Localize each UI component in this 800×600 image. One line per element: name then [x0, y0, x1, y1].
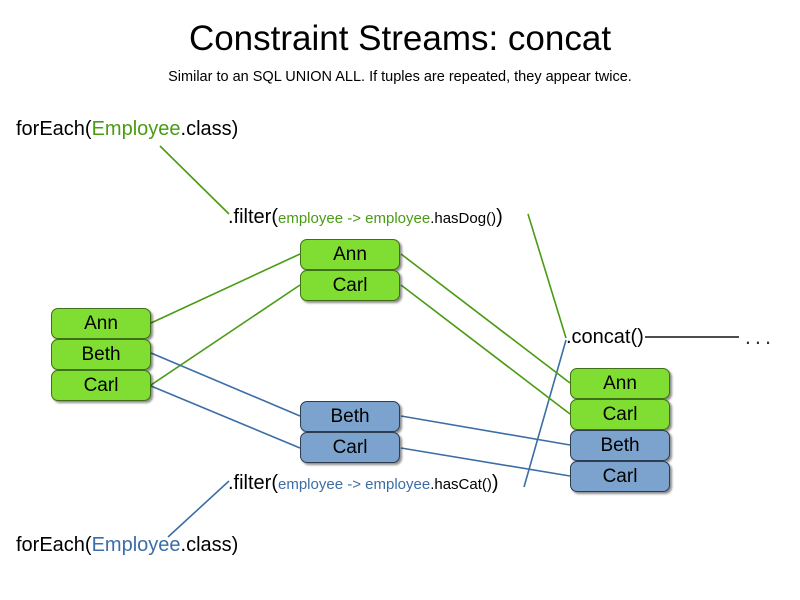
filter-cat-close: ): [492, 472, 499, 494]
tuple-result-3[interactable]: Carl: [570, 461, 670, 492]
tuple-cat-1[interactable]: Carl: [300, 432, 400, 463]
filter-dog-close: ): [496, 206, 503, 228]
filter-dog-lambda-call: .hasDog(): [430, 210, 496, 227]
tuple-label: Beth: [600, 436, 639, 455]
label-foreach-top: forEach(Employee.class): [16, 118, 238, 140]
tuple-label: Ann: [84, 314, 118, 333]
filter-dog-method: .filter(: [228, 206, 278, 228]
page-title: Constraint Streams: concat: [0, 18, 800, 60]
wire-dog-carl-to-result-carl: [401, 285, 570, 414]
tuple-label: Carl: [603, 467, 638, 486]
foreach-top-suffix: .class): [181, 118, 239, 140]
diagram-canvas: Constraint Streams: concat Similar to an…: [0, 0, 800, 600]
filter-cat-lambda-call: .hasCat(): [430, 476, 492, 493]
foreach-top-type: Employee: [92, 118, 181, 140]
filter-cat-method: .filter(: [228, 472, 278, 494]
tuple-source-1[interactable]: Beth: [51, 339, 151, 370]
label-concat: .concat() ...: [566, 326, 775, 348]
filter-dog-arrow: ->: [347, 210, 361, 227]
foreach-bottom-suffix: .class): [181, 534, 239, 556]
label-filter-dog: .filter(employee -> employee.hasDog()): [228, 206, 503, 230]
tuple-label: Ann: [333, 245, 367, 264]
filter-cat-lambda-param: employee: [278, 476, 343, 493]
foreach-bottom-prefix: forEach(: [16, 534, 92, 556]
filter-cat-lambda-obj: employee: [365, 476, 430, 493]
wire-source-carl-to-dog-carl: [151, 285, 300, 385]
foreach-bottom-type: Employee: [92, 534, 181, 556]
tuple-result-1[interactable]: Carl: [570, 399, 670, 430]
leader-foreach-top-to-filter-dog: [160, 146, 229, 214]
leader-filter-cat-to-concat: [524, 340, 566, 487]
concat-method: .concat(): [566, 326, 644, 348]
wire-source-beth-to-cat-beth: [151, 353, 300, 416]
wire-cat-beth-to-result-beth: [401, 416, 570, 445]
page-subtitle: Similar to an SQL UNION ALL. If tuples a…: [0, 68, 800, 86]
tuple-cat-0[interactable]: Beth: [300, 401, 400, 432]
filter-dog-lambda-param: employee: [278, 210, 343, 227]
tuple-source-2[interactable]: Carl: [51, 370, 151, 401]
tuple-label: Carl: [603, 405, 638, 424]
tuple-source-0[interactable]: Ann: [51, 308, 151, 339]
tuple-label: Carl: [84, 376, 119, 395]
foreach-top-prefix: forEach(: [16, 118, 92, 140]
tuple-label: Beth: [330, 407, 369, 426]
filter-cat-arrow: ->: [347, 476, 361, 493]
leader-filter-dog-to-concat: [528, 214, 566, 338]
wire-source-ann-to-dog-ann: [151, 254, 300, 323]
leader-foreach-bottom-to-filter-cat: [168, 481, 229, 537]
wire-source-carl-to-cat-carl: [151, 386, 300, 448]
tuple-result-0[interactable]: Ann: [570, 368, 670, 399]
label-foreach-bottom: forEach(Employee.class): [16, 534, 238, 556]
label-filter-cat: .filter(employee -> employee.hasCat()): [228, 472, 499, 496]
tuple-label: Ann: [603, 374, 637, 393]
tuple-label: Carl: [333, 276, 368, 295]
tuple-dog-1[interactable]: Carl: [300, 270, 400, 301]
connector-layer: [0, 0, 800, 600]
tuple-result-2[interactable]: Beth: [570, 430, 670, 461]
wire-dog-ann-to-result-ann: [401, 254, 570, 383]
tuple-label: Beth: [81, 345, 120, 364]
concat-ellipsis: ...: [745, 326, 775, 348]
tuple-dog-0[interactable]: Ann: [300, 239, 400, 270]
tuple-label: Carl: [333, 438, 368, 457]
concat-continuation-line: [645, 336, 739, 338]
filter-dog-lambda-obj: employee: [365, 210, 430, 227]
